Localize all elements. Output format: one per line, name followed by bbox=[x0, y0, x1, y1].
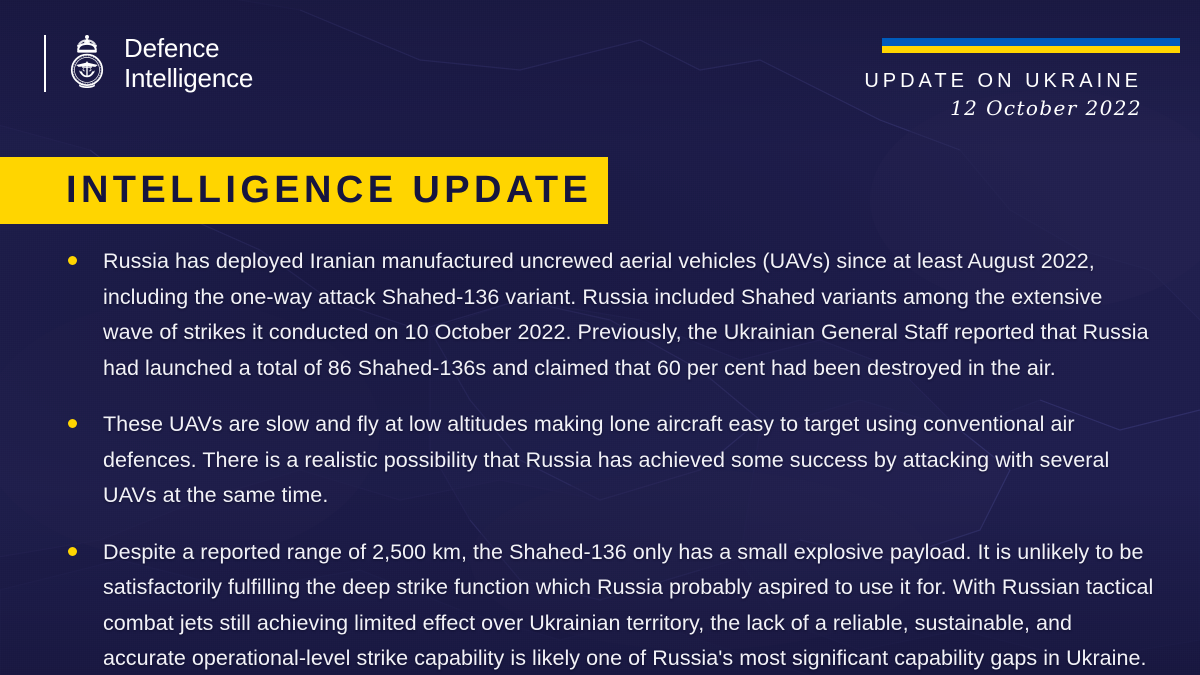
bullet-paragraph: These UAVs are slow and fly at low altit… bbox=[103, 407, 1156, 514]
bullet-paragraph: Russia has deployed Iranian manufactured… bbox=[103, 244, 1156, 386]
brand-lockup: Defence Intelligence bbox=[44, 33, 253, 93]
ukraine-flag-bar bbox=[882, 38, 1180, 53]
flag-stripe-yellow bbox=[882, 46, 1180, 54]
update-date: 12 October 2022 bbox=[864, 94, 1142, 122]
bullet-list: Russia has deployed Iranian manufactured… bbox=[60, 244, 1156, 675]
brand-name: Defence Intelligence bbox=[124, 33, 253, 93]
flag-stripe-blue bbox=[882, 38, 1180, 46]
intelligence-update-banner: INTELLIGENCE UPDATE bbox=[0, 157, 608, 224]
brand-divider bbox=[44, 35, 46, 92]
bullet-dot-icon bbox=[68, 256, 77, 265]
brand-name-line2: Intelligence bbox=[124, 63, 253, 93]
list-item: These UAVs are slow and fly at low altit… bbox=[60, 407, 1156, 514]
bullet-paragraph: Despite a reported range of 2,500 km, th… bbox=[103, 535, 1156, 675]
list-item: Despite a reported range of 2,500 km, th… bbox=[60, 535, 1156, 675]
banner-label: INTELLIGENCE UPDATE bbox=[0, 169, 592, 212]
update-title: UPDATE ON UKRAINE bbox=[864, 68, 1142, 94]
brand-name-line1: Defence bbox=[124, 33, 253, 63]
bullet-dot-icon bbox=[68, 419, 77, 428]
update-heading-block: UPDATE ON UKRAINE 12 October 2022 bbox=[864, 68, 1142, 122]
bullet-dot-icon bbox=[68, 547, 77, 556]
header: Defence Intelligence UPDATE ON UKRAINE 1… bbox=[0, 0, 1200, 150]
list-item: Russia has deployed Iranian manufactured… bbox=[60, 244, 1156, 386]
defence-intelligence-crest-icon bbox=[62, 34, 112, 92]
intelligence-update-poster: Defence Intelligence UPDATE ON UKRAINE 1… bbox=[0, 0, 1200, 675]
